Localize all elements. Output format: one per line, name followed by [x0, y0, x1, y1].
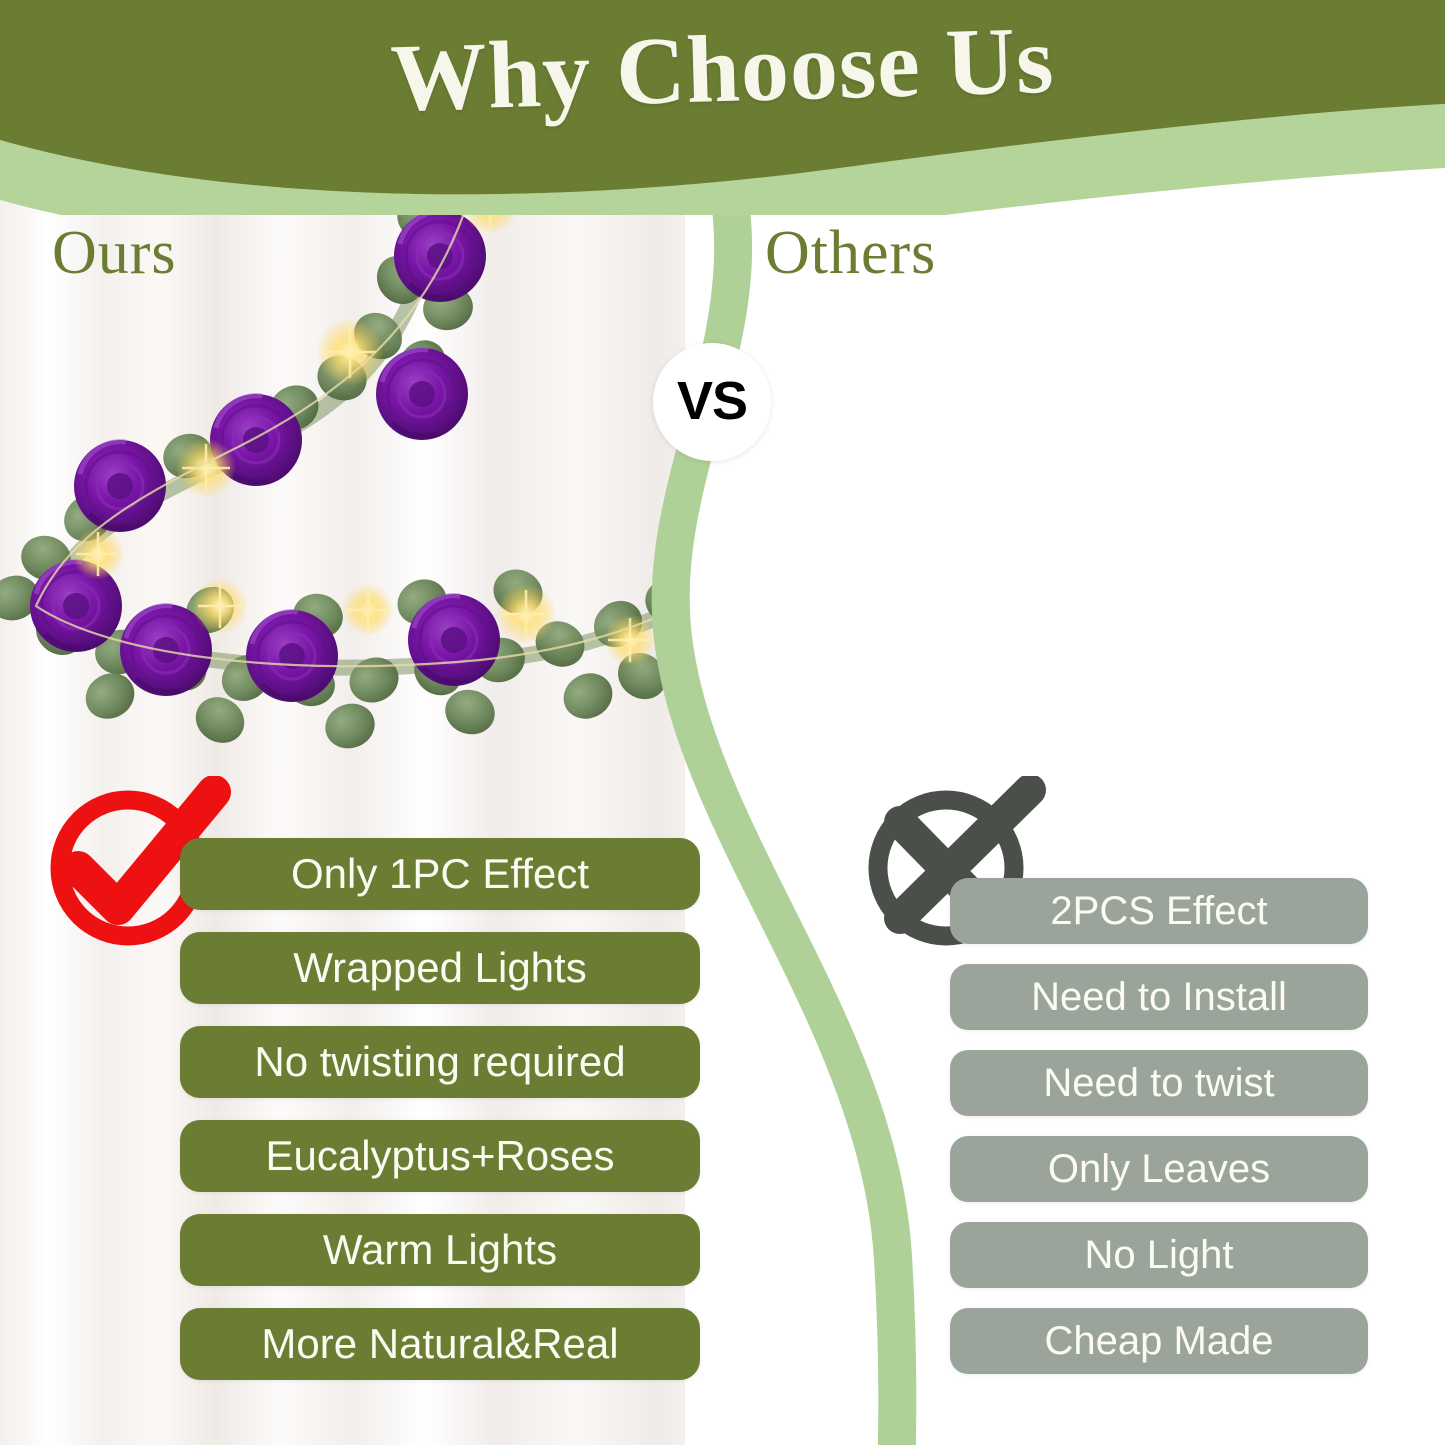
feature-pill: Wrapped Lights: [180, 932, 700, 1004]
feature-pill: Only 1PC Effect: [180, 838, 700, 910]
feature-pill: Need to twist: [950, 1050, 1368, 1116]
ours-label: Ours: [52, 218, 177, 289]
ours-feature-list: Only 1PC Effect Wrapped Lights No twisti…: [180, 838, 700, 1380]
feature-pill: Eucalyptus+Roses: [180, 1120, 700, 1192]
why-choose-us-infographic: Why Choose Us Ours Others VS Only 1PC Ef…: [0, 0, 1445, 1445]
feature-pill: More Natural&Real: [180, 1308, 700, 1380]
feature-pill: No Light: [950, 1222, 1368, 1288]
feature-pill: Need to Install: [950, 964, 1368, 1030]
feature-pill: 2PCS Effect: [950, 878, 1368, 944]
feature-pill: Warm Lights: [180, 1214, 700, 1286]
vs-label: VS: [677, 370, 747, 432]
others-label: Others: [765, 218, 936, 289]
feature-pill: Cheap Made: [950, 1308, 1368, 1374]
others-feature-list: 2PCS Effect Need to Install Need to twis…: [950, 878, 1368, 1374]
vs-badge: VS: [653, 343, 771, 461]
feature-pill: No twisting required: [180, 1026, 700, 1098]
feature-pill: Only Leaves: [950, 1136, 1368, 1202]
